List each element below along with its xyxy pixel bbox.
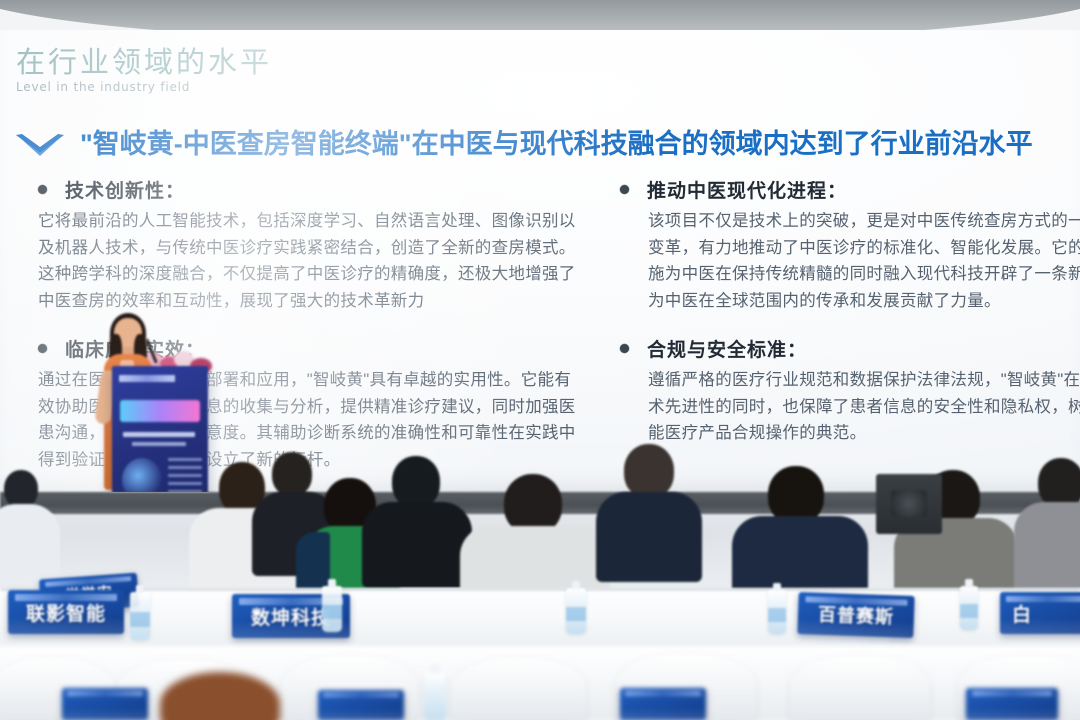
placard-back-row bbox=[62, 688, 148, 720]
conference-photo-scene: 在行业领域的水平 Level in the industry field "智岐… bbox=[0, 0, 1080, 720]
foreground-person bbox=[160, 672, 290, 720]
bullet-body: 该项目不仅是技术上的突破，更是对中医传统查房方式的一次深刻变革，有力地推动了中医… bbox=[648, 208, 1080, 315]
bullet-heading-row: 合规与安全标准： bbox=[620, 335, 1080, 362]
bullet-body: 它将最前沿的人工智能技术，包括深度学习、自然语言处理、图像识别以及机器人技术，与… bbox=[38, 208, 583, 315]
bullet-title: 技术创新性： bbox=[65, 176, 185, 203]
water-bottle bbox=[960, 586, 978, 630]
audience-person bbox=[740, 466, 858, 594]
bullet-block: 合规与安全标准： 遵循严格的医疗行业规范和数据保护法律法规，"智岐黄"在确保技术… bbox=[620, 335, 1080, 447]
chair bbox=[452, 658, 586, 720]
placard-back-row bbox=[318, 690, 404, 720]
bullet-dot-icon bbox=[620, 185, 629, 194]
placard-baipusaisi: 百普赛斯 bbox=[797, 592, 914, 638]
placard-back-row bbox=[966, 688, 1058, 720]
audience-person bbox=[0, 470, 52, 580]
slide-column-right: 推动中医现代化进程： 该项目不仅是技术上的突破，更是对中医传统查房方式的一次深刻… bbox=[620, 176, 1080, 467]
bullet-title: 合规与安全标准： bbox=[647, 335, 807, 362]
bullet-dot-icon bbox=[620, 344, 629, 353]
slide-title-row: "智岐黄-中医查房智能终端"在中医与现代科技融合的领域内达到了行业前沿水平 bbox=[14, 130, 1080, 160]
chevron-down-icon bbox=[14, 132, 66, 158]
slide-header-en: Level in the industry field bbox=[16, 80, 272, 94]
bullet-block: 技术创新性： 它将最前沿的人工智能技术，包括深度学习、自然语言处理、图像识别以及… bbox=[38, 176, 583, 315]
placard-lianying: 联影智能 bbox=[8, 590, 124, 634]
chair bbox=[790, 656, 930, 720]
bullet-dot-icon bbox=[38, 185, 47, 194]
bullet-title: 推动中医现代化进程： bbox=[647, 176, 847, 203]
bullet-block: 推动中医现代化进程： 该项目不仅是技术上的突破，更是对中医传统查房方式的一次深刻… bbox=[620, 176, 1080, 315]
water-bottle bbox=[768, 590, 786, 634]
podium-subtitle-line1 bbox=[123, 432, 195, 437]
water-bottle bbox=[566, 588, 586, 634]
bullet-dot-icon bbox=[38, 344, 47, 353]
podium-subtitle-line2 bbox=[132, 442, 186, 446]
slide-header-cn: 在行业领域的水平 bbox=[16, 48, 272, 78]
slide-title: "智岐黄-中医查房智能终端"在中医与现代科技融合的领域内达到了行业前沿水平 bbox=[80, 130, 1033, 160]
audience-person bbox=[372, 456, 466, 580]
placard-partial-right: 白 bbox=[1000, 592, 1080, 634]
podium-slogan-banner bbox=[120, 400, 200, 422]
audience-person bbox=[600, 444, 696, 572]
audience-person bbox=[470, 474, 600, 602]
slide-header-group: 在行业领域的水平 Level in the industry field bbox=[16, 48, 272, 94]
table-edge bbox=[0, 588, 1080, 591]
bullet-heading-row: 技术创新性： bbox=[38, 176, 583, 203]
podium-logo bbox=[119, 375, 175, 382]
water-bottle bbox=[424, 672, 446, 720]
stage-speaker-box bbox=[876, 474, 942, 534]
water-bottle bbox=[130, 592, 150, 640]
placard-back-row bbox=[620, 688, 706, 720]
bullet-heading-row: 推动中医现代化进程： bbox=[620, 176, 1080, 203]
audience-person bbox=[1020, 458, 1080, 588]
bullet-body: 遵循严格的医疗行业规范和数据保护法律法规，"智岐黄"在确保技术先进性的同时，也保… bbox=[648, 367, 1080, 447]
water-bottle bbox=[322, 586, 342, 632]
